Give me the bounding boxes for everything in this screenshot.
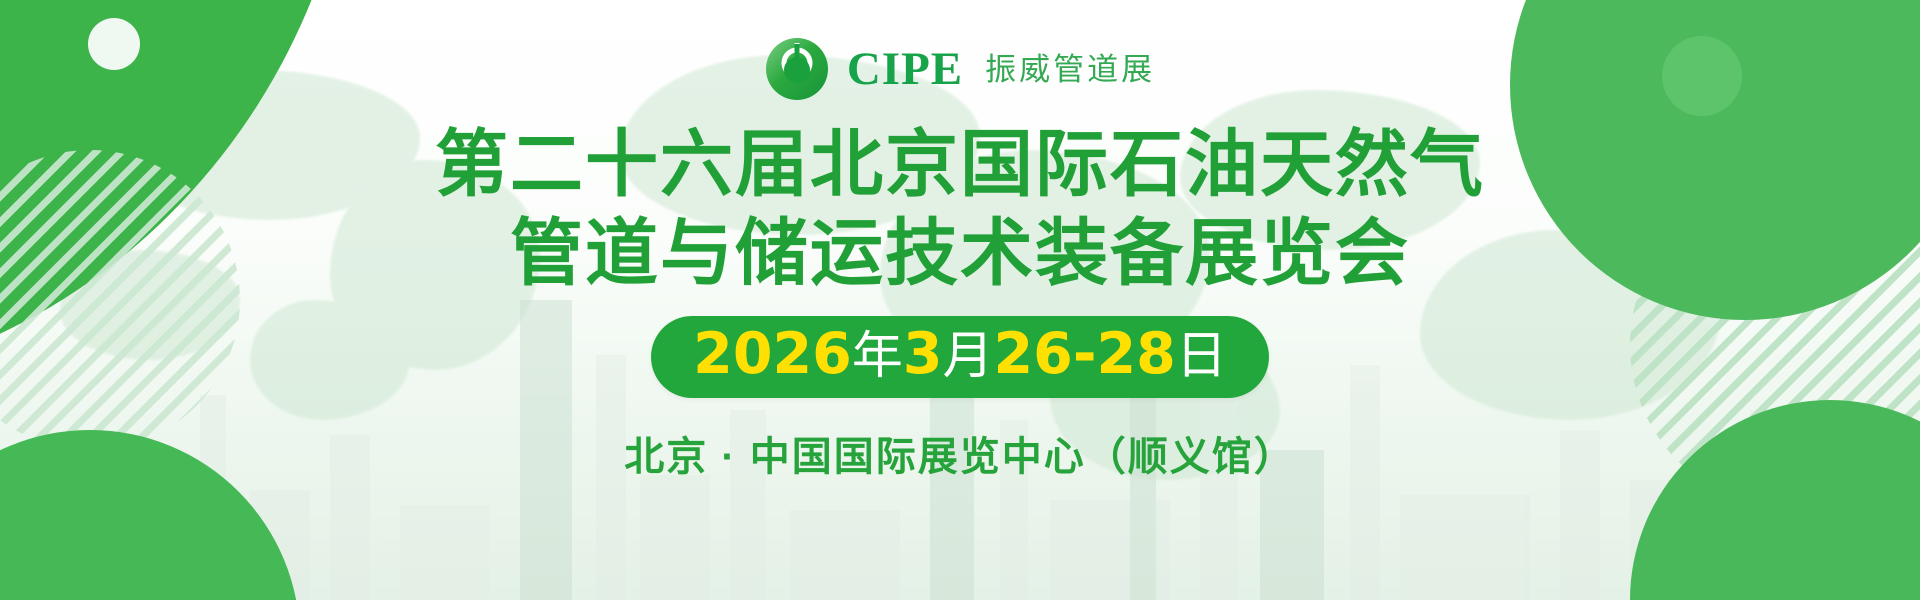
logo-lockup: CIPE 振威管道展 (765, 36, 1155, 102)
date-badge: 2026 年 3 月 26-28 日 (651, 316, 1269, 398)
date-year: 2026 (693, 325, 852, 385)
date-days: 26-28 (994, 325, 1176, 385)
logo-brand-text: CIPE (847, 46, 963, 93)
venue-line: 北京 · 中国国际展览中心（顺义馆） (624, 424, 1296, 482)
cipe-circle-mark-icon (765, 37, 829, 101)
exhibition-banner: CIPE 振威管道展 第二十六届北京国际石油天然气 管道与储运技术装备展览会 2… (0, 0, 1920, 600)
date-day-unit: 日 (1176, 329, 1227, 383)
banner-content: CIPE 振威管道展 第二十六届北京国际石油天然气 管道与储运技术装备展览会 2… (0, 0, 1920, 600)
logo-brand-cn: 振威管道展 (985, 54, 1155, 85)
title-line-1: 第二十六届北京国际石油天然气 (435, 128, 1485, 201)
date-month-unit: 月 (943, 329, 994, 383)
date-year-unit: 年 (852, 329, 903, 383)
date-month: 3 (903, 325, 943, 385)
title-line-2: 管道与储运技术装备展览会 (510, 217, 1410, 290)
